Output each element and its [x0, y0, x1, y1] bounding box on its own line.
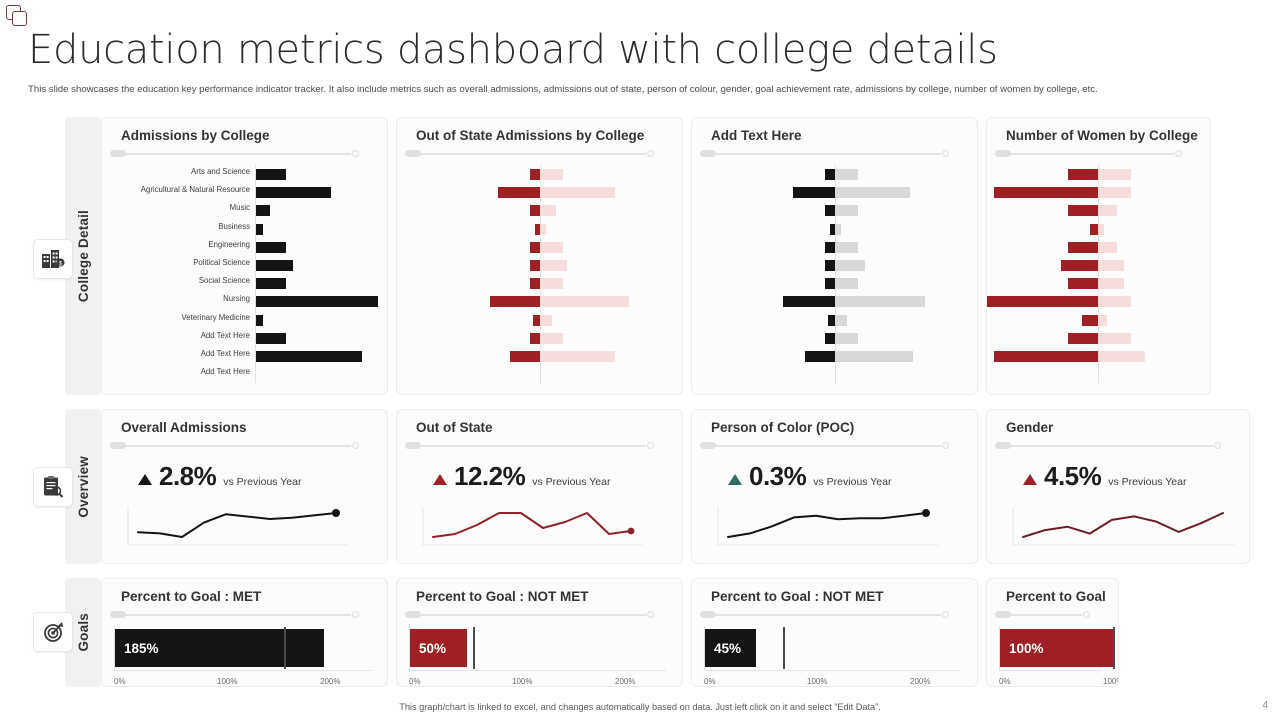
trend-up-triangle-icon: [138, 474, 152, 485]
slider-track: [120, 614, 351, 616]
slider-track: [415, 153, 646, 155]
slider-handle-left[interactable]: [995, 442, 1011, 449]
bar-segment: [1090, 224, 1098, 235]
slider-handle-right[interactable]: [352, 150, 359, 157]
card-admissions-by-college: Admissions by College Arts and ScienceAg…: [101, 117, 388, 395]
goal-fill: 185%: [115, 629, 324, 667]
bar-label-wrap: Arts and Science: [114, 165, 255, 183]
card-percent-to-goal-1: Percent to Goal : MET 185% 0%100%200%: [101, 578, 388, 687]
bar-segment: [510, 351, 540, 362]
goal-progress-bar: 50%: [409, 629, 670, 669]
slider-track: [1005, 445, 1213, 447]
goal-baseline: [114, 670, 371, 671]
table-row: [999, 256, 1198, 274]
slider-handle-left[interactable]: [700, 611, 716, 618]
table-row: [409, 329, 670, 347]
buildings-icon: $: [33, 239, 73, 279]
table-row: [999, 347, 1198, 365]
table-row: [704, 256, 965, 274]
table-row: [704, 165, 965, 183]
sparkline-out-of-state: [409, 505, 670, 551]
card-percent-to-goal-3: Percent to Goal : NOT MET 45% 0%100%200%: [691, 578, 978, 687]
axis-tick-label: 100%: [1103, 677, 1119, 686]
overview-metric: 2.8% vs Previous Year: [114, 461, 375, 501]
goal-progress-bar: 100%: [999, 629, 1106, 669]
bar-label-wrap: Political Science: [114, 256, 255, 274]
card-title: Out of State Admissions by College: [416, 128, 670, 143]
card-title: Out of State: [416, 420, 670, 435]
bar-label-wrap: Add Text Here: [114, 329, 255, 347]
bar-segment: [835, 296, 925, 307]
bar-segment: [530, 333, 540, 344]
bar-label-wrap: Engineering: [114, 238, 255, 256]
axis-tick-label: 0%: [704, 677, 716, 686]
card-out-of-state: Out of State 12.2% vs Previous Year: [396, 409, 683, 564]
two-squares-logo-icon: [4, 3, 30, 29]
axis-tick-label: 100%: [217, 677, 237, 686]
card-title: Percent to Goal : MET: [121, 589, 375, 604]
card-title: Admissions by College: [121, 128, 375, 143]
table-row: Add Text Here: [114, 347, 375, 365]
bar-segment: [783, 296, 835, 307]
rail-goals: Goals: [28, 578, 101, 687]
bar-segment: [825, 242, 835, 253]
table-row: Nursing: [114, 292, 375, 310]
slider-track: [710, 445, 941, 447]
goal-axis-ticks: 0%100%200%: [999, 677, 1106, 687]
metric-value: 2.8%: [159, 461, 216, 492]
slide-root: Education metrics dashboard with college…: [0, 0, 1280, 720]
overview-body: 0.3% vs Previous Year: [704, 461, 965, 551]
category-label: Nursing: [119, 294, 255, 303]
bar-segment: [1068, 278, 1098, 289]
axis-tick-label: 100%: [512, 677, 532, 686]
bar-segment: [835, 224, 841, 235]
bar-segment: [256, 315, 263, 326]
card-slider-9[interactable]: [405, 610, 660, 620]
card-title: Percent to Goal : NOT MET: [711, 589, 965, 604]
axis-tick-label: 0%: [114, 677, 126, 686]
bar-segment: [256, 224, 263, 235]
slider-handle-right[interactable]: [942, 611, 949, 618]
slider-handle-right[interactable]: [942, 150, 949, 157]
category-label: Add Text Here: [119, 331, 255, 340]
category-label: Social Science: [119, 276, 255, 285]
slider-handle-left[interactable]: [405, 150, 421, 157]
bar-segment: [1068, 333, 1098, 344]
bar-segment: [994, 187, 1099, 198]
category-label: Engineering: [119, 240, 255, 249]
bar-segment: [793, 187, 835, 198]
card-slider-11[interactable]: [995, 610, 1096, 620]
chart-out-of-state-admissions: [409, 165, 670, 383]
category-label: Arts and Science: [119, 167, 255, 176]
table-row: [409, 256, 670, 274]
goal-value-label: 45%: [705, 641, 741, 656]
category-label: Music: [119, 203, 255, 212]
rail-label-college-detail: College Detail: [76, 210, 91, 302]
card-number-of-women-by-college: Number of Women by College: [986, 117, 1211, 395]
bar-segment: [825, 278, 835, 289]
bar-segment: [835, 242, 858, 253]
slider-handle-left[interactable]: [700, 150, 716, 157]
table-row: Music: [114, 201, 375, 219]
slider-handle-right[interactable]: [647, 442, 654, 449]
goal-baseline: [409, 670, 666, 671]
goal-body: 45% 0%100%200%: [704, 629, 965, 687]
rail-label-overview: Overview: [76, 456, 91, 518]
table-row: [704, 329, 965, 347]
page-subtitle: This slide showcases the education key p…: [28, 84, 1098, 95]
axis-tick-label: 200%: [910, 677, 930, 686]
category-label: Add Text Here: [119, 349, 255, 358]
goal-body: 185% 0%100%200%: [114, 629, 375, 687]
card-slider-10[interactable]: [700, 610, 955, 620]
table-row: [999, 238, 1198, 256]
bar-segment: [835, 351, 913, 362]
page-number: 4: [1262, 700, 1268, 711]
sparkline-svg: [1009, 505, 1237, 547]
bar-segment: [1098, 315, 1106, 326]
table-row: [704, 183, 965, 201]
slider-track: [120, 445, 351, 447]
bar-segment: [1098, 333, 1130, 344]
bar-segment: [540, 315, 552, 326]
table-row: [409, 201, 670, 219]
category-label: Add Text Here: [119, 367, 255, 376]
axis-tick-label: 0%: [409, 677, 421, 686]
bar-segment: [1068, 242, 1098, 253]
sparkline-svg: [419, 505, 645, 547]
overview-body: 4.5% vs Previous Year: [999, 461, 1237, 551]
table-row: [704, 292, 965, 310]
axis-tick-label: 200%: [320, 677, 340, 686]
bar-segment: [825, 205, 835, 216]
card-slider-3[interactable]: [995, 149, 1188, 159]
table-row: Engineering: [114, 238, 375, 256]
table-row: Add Text Here: [114, 329, 375, 347]
sparkline-svg: [714, 505, 940, 547]
row-college-detail: College Detail: [28, 117, 1211, 395]
slider-track: [1005, 153, 1174, 155]
slider-handle-right[interactable]: [352, 442, 359, 449]
table-row: [999, 329, 1198, 347]
table-row: [999, 183, 1198, 201]
goal-progress-bar: 45%: [704, 629, 965, 669]
bar-label-wrap: Music: [114, 201, 255, 219]
bar-segment: [1098, 351, 1145, 362]
card-title: Gender: [1006, 420, 1237, 435]
goal-fill: 100%: [1000, 629, 1114, 667]
table-row: Add Text Here: [114, 365, 375, 383]
bar-segment: [530, 278, 540, 289]
table-row: [999, 165, 1198, 183]
trend-up-triangle-icon: [728, 474, 742, 485]
axis-tick-label: 0%: [999, 677, 1011, 686]
goal-value-label: 185%: [115, 641, 159, 656]
slider-handle-right[interactable]: [352, 611, 359, 618]
bar-segment: [835, 315, 847, 326]
sparkline-person-of-color: [704, 505, 965, 551]
table-row: [409, 165, 670, 183]
target-arrow-icon: [33, 612, 73, 652]
table-row: [999, 274, 1198, 292]
bar-segment: [490, 296, 540, 307]
card-title: Person of Color (POC): [711, 420, 965, 435]
table-row: [409, 238, 670, 256]
table-row: Social Science: [114, 274, 375, 292]
card-out-of-state-admissions-by-college: Out of State Admissions by College: [396, 117, 683, 395]
table-row: [704, 238, 965, 256]
bar-label-wrap: Nursing: [114, 292, 255, 310]
category-label: Political Science: [119, 258, 255, 267]
sparkline-gender: [999, 505, 1237, 551]
card-percent-to-goal-2: Percent to Goal : NOT MET 50% 0%100%200%: [396, 578, 683, 687]
bar-segment: [1068, 169, 1098, 180]
slider-track: [120, 153, 351, 155]
goal-fill: 45%: [705, 629, 756, 667]
bar-segment: [540, 260, 567, 271]
table-row: [999, 201, 1198, 219]
bar-segment: [540, 296, 629, 307]
goal-axis-ticks: 0%100%200%: [114, 677, 375, 687]
card-slider-2[interactable]: [700, 149, 955, 159]
bar-segment: [540, 224, 546, 235]
chart-number-of-women: [999, 165, 1198, 383]
goal-value-label: 50%: [410, 641, 446, 656]
goal-body: 50% 0%100%200%: [409, 629, 670, 687]
table-row: [704, 201, 965, 219]
category-label: Agricultural & Natural Resource: [119, 185, 255, 194]
category-label: Veterinary Medicine: [119, 313, 255, 322]
card-overall-admissions: Overall Admissions 2.8% vs Previous Year: [101, 409, 388, 564]
table-row: Business: [114, 220, 375, 238]
bar-segment: [256, 187, 331, 198]
goal-cards: Percent to Goal : MET 185% 0%100%200%: [101, 578, 1119, 687]
slider-handle-left[interactable]: [110, 442, 126, 449]
card-title: Overall Admissions: [121, 420, 375, 435]
bar-segment: [256, 296, 378, 307]
footer-note: This graph/chart is linked to excel, and…: [0, 702, 1280, 712]
bar-segment: [540, 205, 556, 216]
row-overview: Overview Overall Admissio: [28, 409, 1250, 564]
sparkline-overall-admissions: [114, 505, 375, 551]
metric-comparison-label: vs Previous Year: [813, 476, 891, 488]
slider-handle-right[interactable]: [647, 150, 654, 157]
bar-label-wrap: Veterinary Medicine: [114, 311, 255, 329]
overview-body: 12.2% vs Previous Year: [409, 461, 670, 551]
bar-segment: [835, 187, 910, 198]
card-slider-7[interactable]: [995, 441, 1227, 451]
table-row: [704, 274, 965, 292]
bar-segment: [540, 351, 615, 362]
goal-target-marker: [1113, 627, 1115, 669]
axis-tick-label: 100%: [807, 677, 827, 686]
bar-segment: [1098, 278, 1123, 289]
metric-value: 0.3%: [749, 461, 806, 492]
bar-segment: [835, 169, 858, 180]
bar-label-wrap: Add Text Here: [114, 347, 255, 365]
bar-segment: [530, 242, 540, 253]
goal-axis-ticks: 0%100%200%: [409, 677, 670, 687]
bar-segment: [835, 333, 858, 344]
slider-handle-right[interactable]: [942, 442, 949, 449]
bar-segment: [1068, 205, 1098, 216]
bar-segment: [530, 205, 540, 216]
table-row: [409, 183, 670, 201]
bar-segment: [540, 169, 563, 180]
slider-handle-left[interactable]: [405, 611, 421, 618]
trend-up-triangle-icon: [1023, 474, 1037, 485]
metric-comparison-label: vs Previous Year: [532, 476, 610, 488]
bar-segment: [1098, 296, 1130, 307]
bar-segment: [1098, 260, 1123, 271]
overview-body: 2.8% vs Previous Year: [114, 461, 375, 551]
slider-handle-left[interactable]: [995, 611, 1011, 618]
card-title: Percent to Goal : NOT MET: [416, 589, 670, 604]
slider-track: [710, 153, 941, 155]
card-slider-8[interactable]: [110, 610, 365, 620]
overview-metric: 4.5% vs Previous Year: [999, 461, 1237, 501]
bar-segment: [835, 278, 858, 289]
bar-segment: [1098, 187, 1130, 198]
card-gender: Gender 4.5% vs Previous Year: [986, 409, 1250, 564]
metric-comparison-label: vs Previous Year: [1108, 476, 1186, 488]
goal-progress-bar: 185%: [114, 629, 375, 669]
table-row: [704, 365, 965, 383]
overview-metric: 0.3% vs Previous Year: [704, 461, 965, 501]
card-title: Add Text Here: [711, 128, 965, 143]
card-slider-1[interactable]: [405, 149, 660, 159]
college-cards: Admissions by College Arts and ScienceAg…: [101, 117, 1211, 395]
bar-segment: [256, 169, 286, 180]
slider-handle-left[interactable]: [995, 150, 1011, 157]
dashboard-board: College Detail: [28, 117, 1252, 687]
bar-segment: [1061, 260, 1099, 271]
bar-segment: [256, 351, 362, 362]
table-row: [704, 220, 965, 238]
rail-overview: Overview: [28, 409, 101, 564]
metric-comparison-label: vs Previous Year: [223, 476, 301, 488]
bar-label-wrap: Agricultural & Natural Resource: [114, 183, 255, 201]
table-row: [999, 220, 1198, 238]
bar-segment: [994, 351, 1099, 362]
card-slider-6[interactable]: [700, 441, 955, 451]
table-row: Arts and Science: [114, 165, 375, 183]
card-person-of-color: Person of Color (POC) 0.3% vs Previous Y…: [691, 409, 978, 564]
slider-handle-left[interactable]: [700, 442, 716, 449]
bar-segment: [540, 333, 563, 344]
card-percent-to-goal-4: Percent to Goal 100% 0%100%200%: [986, 578, 1119, 687]
bar-segment: [533, 315, 540, 326]
overview-cards: Overall Admissions 2.8% vs Previous Year: [101, 409, 1250, 564]
rail-college-detail: College Detail: [28, 117, 101, 395]
bar-segment: [1098, 224, 1104, 235]
bar-segment: [1098, 169, 1130, 180]
bar-segment: [540, 187, 615, 198]
table-row: [704, 311, 965, 329]
table-row: [409, 292, 670, 310]
table-row: [704, 347, 965, 365]
trend-up-triangle-icon: [433, 474, 447, 485]
card-slider-5[interactable]: [405, 441, 660, 451]
overview-metric: 12.2% vs Previous Year: [409, 461, 670, 501]
slider-handle-right[interactable]: [647, 611, 654, 618]
bar-segment: [825, 260, 835, 271]
bar-segment: [825, 169, 835, 180]
goal-value-label: 100%: [1000, 641, 1044, 656]
table-row: [409, 311, 670, 329]
bar-segment: [256, 242, 286, 253]
table-row: Agricultural & Natural Resource: [114, 183, 375, 201]
bar-segment: [540, 242, 563, 253]
goal-fill: 50%: [410, 629, 467, 667]
card-title: Percent to Goal: [1006, 589, 1106, 604]
slider-track: [1005, 614, 1082, 616]
bar-segment: [256, 260, 293, 271]
slider-handle-left[interactable]: [110, 611, 126, 618]
bar-label-wrap: Business: [114, 220, 255, 238]
chart-admissions-by-college: Arts and ScienceAgricultural & Natural R…: [114, 165, 375, 383]
slider-track: [415, 445, 646, 447]
table-row: Veterinary Medicine: [114, 311, 375, 329]
axis-tick-label: 200%: [615, 677, 635, 686]
slider-handle-right[interactable]: [1214, 442, 1221, 449]
bar-segment: [256, 205, 270, 216]
card-slider-0[interactable]: [110, 149, 365, 159]
card-slider-4[interactable]: [110, 441, 365, 451]
bar-segment: [530, 260, 540, 271]
bar-segment: [256, 333, 286, 344]
metric-value: 12.2%: [454, 461, 525, 492]
slider-handle-left[interactable]: [110, 150, 126, 157]
slider-handle-right[interactable]: [1175, 150, 1182, 157]
table-row: [409, 220, 670, 238]
metric-value: 4.5%: [1044, 461, 1101, 492]
table-row: [999, 292, 1198, 310]
goal-baseline: [999, 670, 1102, 671]
table-row: [999, 311, 1198, 329]
slider-handle-right[interactable]: [1083, 611, 1090, 618]
goal-body: 100% 0%100%200%: [999, 629, 1106, 687]
card-add-text-here: Add Text Here: [691, 117, 978, 395]
bar-label-wrap: Add Text Here: [114, 365, 255, 383]
chart-add-text-here: [704, 165, 965, 383]
rail-label-goals: Goals: [76, 613, 91, 652]
card-title: Number of Women by College: [1006, 128, 1198, 143]
table-row: [409, 347, 670, 365]
slider-handle-left[interactable]: [405, 442, 421, 449]
goal-target-marker: [783, 627, 785, 669]
goal-baseline: [704, 670, 961, 671]
bar-segment: [825, 333, 835, 344]
table-row: [409, 274, 670, 292]
table-row: Political Science: [114, 256, 375, 274]
slider-track: [415, 614, 646, 616]
bar-segment: [256, 278, 286, 289]
goal-target-marker: [284, 627, 286, 669]
bar-segment: [530, 169, 540, 180]
table-row: [409, 365, 670, 383]
bar-segment: [1098, 205, 1116, 216]
clipboard-search-icon: [33, 467, 73, 507]
bar-segment: [1098, 242, 1116, 253]
bar-label-wrap: Social Science: [114, 274, 255, 292]
row-goals: Goals Percent to Goal : MET: [28, 578, 1119, 687]
sparkline-svg: [124, 505, 350, 547]
bar-segment: [540, 278, 563, 289]
bar-segment: [498, 187, 540, 198]
